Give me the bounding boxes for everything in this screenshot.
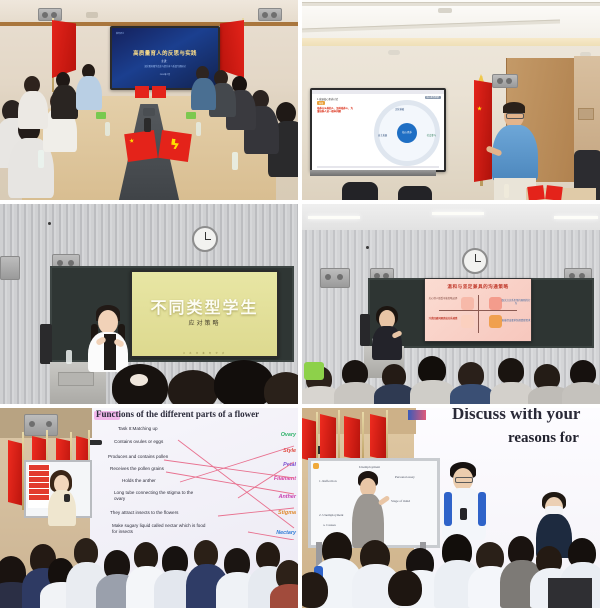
- slide-6-line-1: Discuss with your: [452, 408, 580, 424]
- wall-poster: [408, 410, 426, 420]
- desk-flag-2: [152, 86, 166, 98]
- hair: [503, 102, 525, 113]
- photo-1-scene: 教育研讨 高质量育人的反思与实践 主讲： 深化教育教学改革与提升育人质量专题研讨…: [0, 0, 298, 200]
- wall-speaker-right: [258, 8, 282, 21]
- audience: [302, 342, 600, 404]
- slide-5-item-2: Receives the pollen grains: [110, 466, 164, 471]
- wall-camera: [88, 440, 102, 445]
- hair-clip: [130, 374, 148, 386]
- desk: [548, 578, 592, 608]
- projection-screen[interactable]: 不同类型学生 应对策略 江 苏 省 教 育 学 会: [130, 270, 279, 358]
- students: [0, 516, 298, 608]
- ceiling-rail-1: [302, 2, 600, 6]
- wall-speaker: [24, 414, 58, 436]
- photo-tile-4[interactable]: 温和与坚定兼具的沟通策略 关心他人感受可能忽略边界 既关注关系也坚持原则的行为 …: [302, 204, 600, 404]
- cove-light: [302, 38, 600, 46]
- core-competency-wheel: 文化基础 自主发展 社会参与 核心素养: [374, 100, 440, 166]
- quadrant-icon-1: [461, 297, 474, 310]
- slide-2-footer-bar: [317, 166, 439, 168]
- wheel-label-1: 自主发展: [378, 133, 387, 137]
- slide-1-presenter: 主讲：: [112, 59, 218, 63]
- photo-3-scene: 不同类型学生 应对策略 江 苏 省 教 育 学 会: [0, 204, 298, 404]
- glasses: [506, 113, 524, 119]
- ceiling-light: [308, 216, 360, 219]
- quadrant-label-2: 既关注关系也坚持原则的行为: [501, 299, 531, 305]
- desk-flag-1: [135, 86, 149, 98]
- slide-4: 温和与坚定兼具的沟通策略 关心他人感受可能忽略边界 既关注关系也坚持原则的行为 …: [425, 279, 531, 341]
- slide-2: 核心素养框架 1.发展核心素养讨论 背景 培养什么样的人、怎样培养人、为谁培养人…: [312, 90, 444, 170]
- ceiling-light: [554, 216, 598, 219]
- national-flag: [474, 80, 492, 182]
- national-flag-left: [52, 20, 76, 78]
- slide-5-item-3: Holds the anther: [122, 478, 156, 483]
- slide-5-answer-4: Anther: [279, 494, 296, 500]
- interactive-display[interactable]: 核心素养框架 1.发展核心素养讨论 背景 培养什么样的人、怎样培养人、为谁培养人…: [310, 88, 446, 172]
- tissue-box: [186, 112, 196, 119]
- national-flag-right: [220, 20, 244, 78]
- quadrant-icon-3: [461, 315, 474, 328]
- slide-6-line-2: reasons for: [508, 430, 579, 447]
- table-ornament: [144, 118, 151, 132]
- slide-5-item-0: Contains ovules or eggs: [114, 439, 163, 444]
- party-emblem: [170, 138, 181, 149]
- photo-4-scene: 温和与坚定兼具的沟通策略 关心他人感受可能忽略边界 既关注关系也坚持原则的行为 …: [302, 204, 600, 404]
- slide-5-title: Functions of the different parts of a fl…: [96, 409, 259, 419]
- slide-3-subtitle: 应对策略: [132, 318, 277, 327]
- photo-5-scene: Functions of the different parts of a fl…: [0, 408, 298, 608]
- slide-4-title: 温和与坚定兼具的沟通策略: [425, 284, 531, 290]
- display-stand: [310, 170, 436, 176]
- table-microphone-base: [143, 108, 155, 116]
- wheel-label-2: 社会参与: [427, 133, 436, 137]
- board-magnet: [313, 463, 319, 469]
- microphone: [64, 494, 70, 502]
- whiteboard-note-0: Unemployment: [359, 465, 380, 469]
- slide-2-corner-tag: 核心素养框架: [425, 96, 441, 99]
- photo-tile-3[interactable]: 不同类型学生 应对策略 江 苏 省 教 育 学 会: [0, 204, 298, 404]
- wheel-center-label: 核心素养: [397, 123, 417, 143]
- ceiling-speaker: [388, 50, 400, 55]
- photo-tile-6[interactable]: Discuss with your reasons for Unemployme…: [302, 408, 600, 608]
- glasses: [455, 477, 473, 483]
- slide-2-chip: 背景: [317, 101, 325, 105]
- photo-tile-5[interactable]: Functions of the different parts of a fl…: [0, 408, 298, 608]
- slide-5-item-5: They attract insects to the flowers: [110, 510, 178, 515]
- whiteboard-note-5: Stage of mind: [391, 499, 410, 503]
- slide-5-item-1: Produces and contains pollen: [108, 454, 168, 459]
- control-panel[interactable]: [0, 256, 20, 280]
- photo-tile-2[interactable]: 核心素养框架 1.发展核心素养讨论 背景 培养什么样的人、怎样培养人、为谁培养人…: [302, 0, 600, 200]
- quadrant-axis-vertical: [478, 295, 479, 333]
- slide-2-red-text: 培养什么样的人、怎样培养人、为谁培养人这一根本问题: [317, 107, 355, 113]
- slide-toolbar: [312, 90, 444, 94]
- projector-mount: [86, 12, 98, 18]
- water-bottle: [196, 122, 201, 136]
- red-progress-chart: [28, 464, 50, 508]
- air-conditioner: [492, 74, 518, 88]
- photo-6-scene: Discuss with your reasons for Unemployme…: [302, 408, 600, 608]
- wall-clock: [192, 226, 218, 252]
- slide-3: 不同类型学生 应对策略 江 苏 省 教 育 学 会: [132, 272, 277, 356]
- water-bottle: [105, 122, 110, 136]
- wheel-label-0: 文化基础: [395, 107, 404, 111]
- slide-3-footer: 江 苏 省 教 育 学 会: [183, 352, 226, 355]
- ceiling-projector: [438, 8, 452, 13]
- flag-star: [129, 138, 135, 144]
- chair-back: [398, 186, 432, 200]
- slide-1-tag: 教育研讨: [116, 32, 124, 35]
- audience: [0, 356, 298, 404]
- water-bottle: [504, 184, 509, 198]
- photo-tile-1[interactable]: 教育研讨 高质量育人的反思与实践 主讲： 深化教育教学改革与提升育人质量专题研讨…: [0, 0, 298, 200]
- quadrant-label-3: 冷漠回避问题造成关系疏离: [428, 317, 458, 320]
- quadrant-axis-horizontal: [439, 310, 517, 311]
- slide-5-item-4: Long tube connecting the stigma to the o…: [114, 490, 200, 501]
- photo-collage: 教育研讨 高质量育人的反思与实践 主讲： 深化教育教学改革与提升育人质量专题研讨…: [0, 0, 600, 612]
- photo-2-scene: 核心素养框架 1.发展核心素养讨论 背景 培养什么样的人、怎样培养人、为谁培养人…: [302, 0, 600, 200]
- slide-1-title: 高质量育人的反思与实践: [112, 49, 218, 57]
- slide-5-answer-3: Filament: [274, 476, 296, 482]
- green-chair: [304, 362, 324, 380]
- whiteboard-note-1: 1. Reflection: [319, 479, 337, 483]
- water-bottle: [38, 150, 44, 168]
- desk-flag-national: [527, 185, 545, 200]
- slide-5-answer-1: Style: [283, 448, 296, 454]
- ceiling-light: [432, 212, 484, 215]
- wall-plate: [578, 108, 594, 120]
- wall-speaker-left: [38, 8, 62, 21]
- desk-flag-party: [158, 130, 192, 162]
- wall-dot: [366, 246, 369, 249]
- slide-3-title: 不同类型学生: [132, 294, 277, 318]
- whiteboard-note-4: Personal essay: [395, 475, 415, 479]
- chair-back: [342, 182, 378, 200]
- wall-dot: [48, 222, 51, 225]
- slide-5-answer-2: Petal: [283, 462, 296, 468]
- tissue-box: [96, 112, 106, 119]
- quadrant-label-4: 直接提出要求忽视情感需求: [501, 319, 531, 322]
- students: [302, 512, 600, 608]
- slide-5-task: Task II:Matching up: [118, 426, 158, 431]
- wall-speaker-left: [320, 268, 350, 288]
- water-bottle: [232, 152, 238, 170]
- slide-5-answer-0: Ovary: [281, 432, 296, 438]
- wall-clock: [462, 248, 488, 274]
- projection-screen[interactable]: 温和与坚定兼具的沟通策略 关心他人感受可能忽略边界 既关注关系也坚持原则的行为 …: [424, 278, 532, 342]
- desk-flag-party: [545, 185, 563, 200]
- desk-flag-national-large: [124, 130, 158, 162]
- quadrant-label-1: 关心他人感受可能忽略边界: [428, 297, 458, 300]
- flag-star: [477, 106, 482, 111]
